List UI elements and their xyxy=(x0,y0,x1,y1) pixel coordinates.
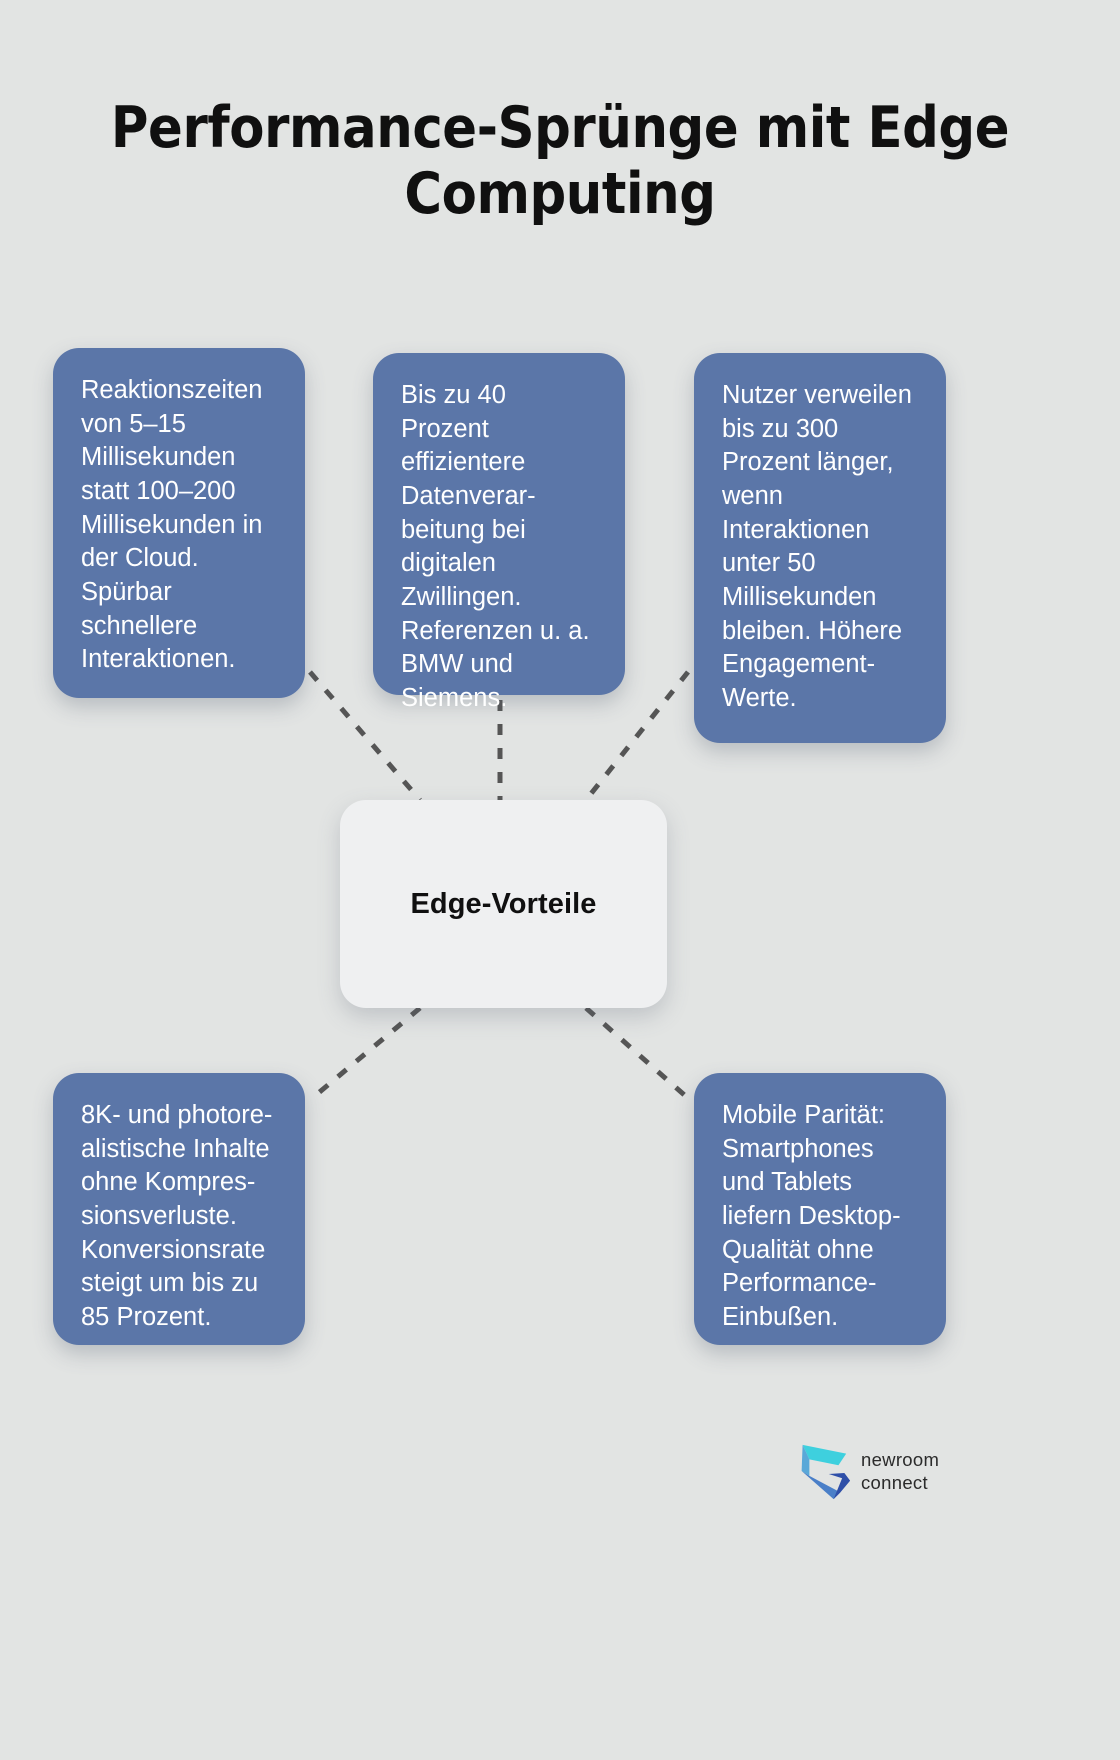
infographic-canvas: Performance-Sprünge mit Edge Computing R… xyxy=(0,0,1120,1760)
connector-bottom-left xyxy=(310,1008,420,1100)
connector-bottom-right xyxy=(586,1008,690,1100)
logo-word-connect: connect xyxy=(861,1472,939,1495)
center-node[interactable]: Edge-Vorteile xyxy=(340,800,667,1008)
node-card-bildqualitaet[interactable]: 8K- und photore-alistische Inhalte ohne … xyxy=(53,1073,305,1345)
center-node-label: Edge-Vorteile xyxy=(410,888,596,921)
logo-wordmark: newroom connect xyxy=(861,1449,939,1494)
logo-word-newroom: newroom xyxy=(861,1449,939,1472)
node-card-mobile-paritaet[interactable]: Mobile Parität: Smartphones und Tablets … xyxy=(694,1073,946,1345)
brand-logo: newroom connect xyxy=(790,1438,965,1506)
node-card-datenverarbeitung[interactable]: Bis zu 40 Prozent effizientere Datenvera… xyxy=(373,353,625,695)
newroom-connect-logo-icon xyxy=(790,1441,852,1503)
node-card-verweildauer[interactable]: Nutzer verweilen bis zu 300 Prozent läng… xyxy=(694,353,946,743)
node-card-reaktionszeiten[interactable]: Reaktionszeiten von 5–15 Millisekunden s… xyxy=(53,348,305,698)
